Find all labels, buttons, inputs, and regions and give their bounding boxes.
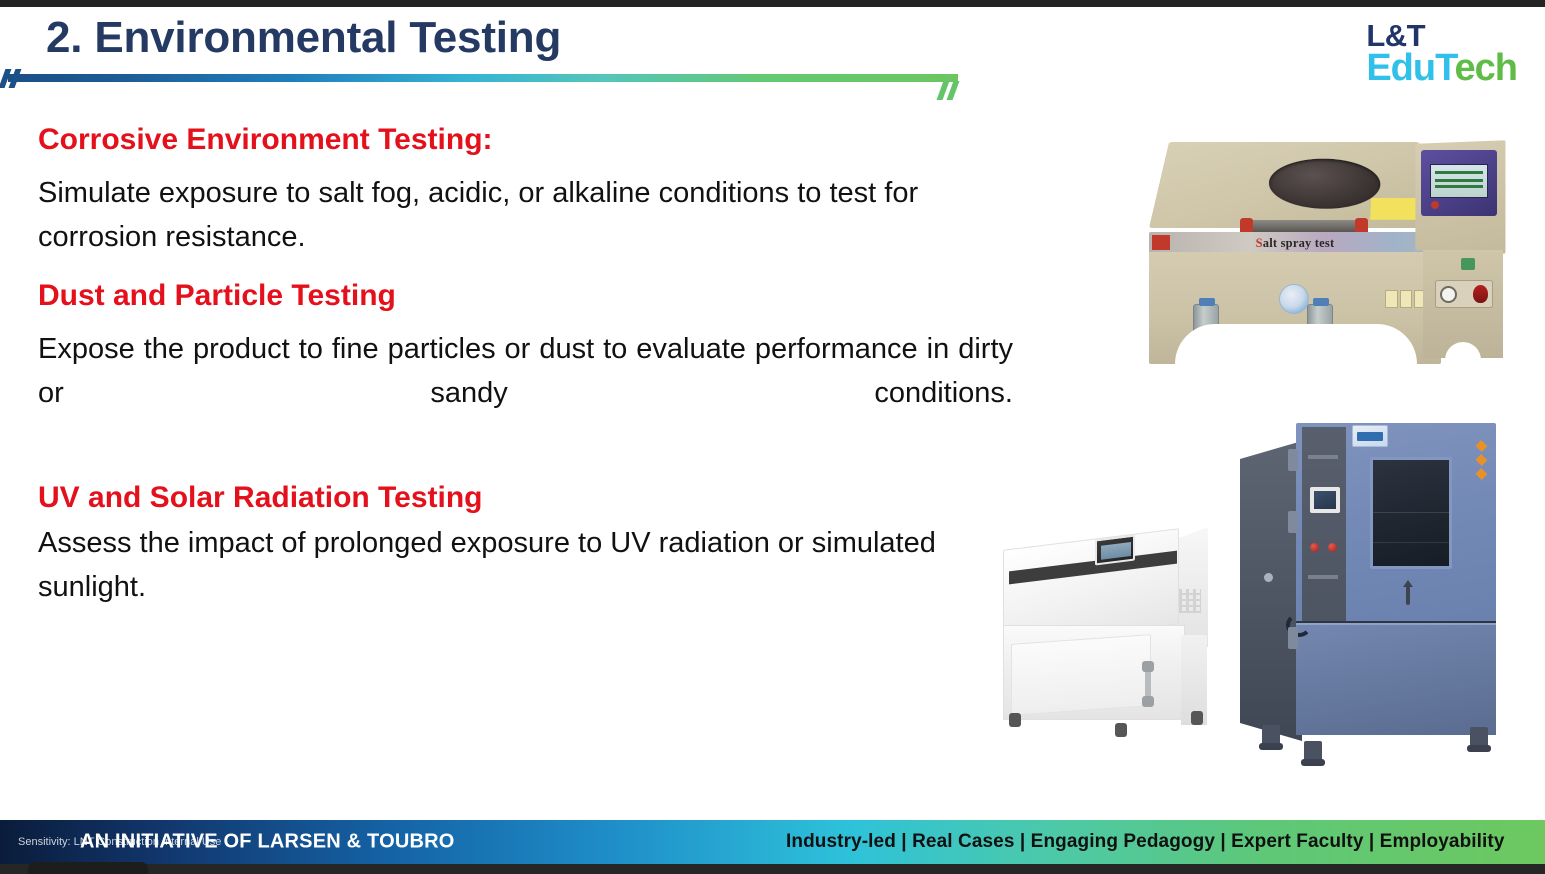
uv-vent-grille-icon — [1179, 589, 1201, 613]
section-text-dust: Expose the product to fine particles or … — [38, 327, 1013, 459]
chamber-label-rest: alt spray test — [1263, 236, 1335, 250]
logo-tech-t: T — [1435, 47, 1454, 89]
logo-edu-text: Edu — [1366, 47, 1435, 89]
logo-tech-text: Tech — [1435, 47, 1517, 89]
lcd-display-icon — [1430, 164, 1488, 198]
divider-gradient-line — [8, 74, 958, 82]
yellow-label-icon — [1370, 198, 1421, 220]
env-touchscreen-icon — [1310, 487, 1340, 513]
pressure-gauge-icon — [1440, 286, 1457, 303]
section-corrosive: Corrosive Environment Testing: Simulate … — [38, 125, 1013, 259]
section-heading-corrosive: Corrosive Environment Testing: — [38, 125, 1013, 155]
chamber-nameplate: Salt spray test — [1149, 232, 1441, 254]
title-divider — [0, 69, 975, 99]
chamber-label-initial: S — [1256, 236, 1263, 250]
control-panel-screen — [1421, 150, 1497, 216]
env-door-handle-icon[interactable] — [1406, 583, 1410, 605]
chamber-label-text: Salt spray test — [1256, 236, 1335, 251]
uv-base-door — [1011, 634, 1151, 716]
footer-tagline-text: Industry-led | Real Cases | Engaging Ped… — [786, 831, 1505, 853]
section-dust: Dust and Particle Testing Expose the pro… — [38, 281, 1013, 459]
env-viewing-window — [1370, 457, 1452, 569]
uv-caster-icon-1 — [1009, 713, 1021, 727]
footer-initiative-text: AN INITIATIVE OF LARSEN & TOUBRO — [80, 831, 455, 854]
env-hinge-icon-1 — [1288, 449, 1298, 471]
logo-edutech-text: EduTech — [1366, 51, 1517, 86]
section-text-corrosive: Simulate exposure to salt fog, acidic, o… — [38, 171, 1013, 259]
section-text-uv: Assess the impact of prolonged exposure … — [38, 521, 1013, 609]
env-side-wall — [1240, 441, 1302, 741]
env-control-label-1 — [1308, 455, 1338, 459]
env-foot-icon-1 — [1262, 725, 1280, 745]
window-bottom-band — [0, 864, 1545, 874]
section-heading-uv: UV and Solar Radiation Testing — [38, 483, 1013, 513]
uv-control-screen-icon — [1095, 535, 1135, 566]
taskbar-chip[interactable] — [28, 862, 148, 874]
nameplate-red-block-icon — [1152, 235, 1170, 250]
uv-caster-icon-2 — [1115, 723, 1127, 737]
env-side-knob-icon — [1264, 573, 1273, 582]
env-control-label-2 — [1308, 575, 1338, 579]
content-body: Corrosive Environment Testing: Simulate … — [38, 125, 1013, 610]
chamber-base-arch — [1175, 324, 1417, 364]
uv-door-latch-icon — [1145, 667, 1151, 703]
window-top-band — [0, 0, 1545, 7]
emergency-knob-icon — [1473, 285, 1488, 303]
tower-sticker-icon — [1461, 258, 1475, 270]
salt-spray-test-chamber-image: Salt spray test — [1143, 100, 1515, 368]
env-brand-badge-icon — [1352, 425, 1388, 447]
logo-tech-rest: ech — [1455, 47, 1517, 89]
env-button-icon-1[interactable] — [1310, 543, 1319, 552]
fuse-panel-icon — [1385, 290, 1427, 308]
lid-viewport-icon — [1268, 159, 1384, 209]
panel-indicator-icon — [1431, 201, 1439, 209]
chamber-badge-icon — [1279, 284, 1309, 314]
env-indicator-lights-icon — [1476, 441, 1488, 483]
env-button-icon-2[interactable] — [1328, 543, 1337, 552]
chamber-body — [1149, 252, 1441, 364]
page-title: 2. Environmental Testing — [46, 13, 561, 63]
section-heading-dust: Dust and Particle Testing — [38, 281, 1013, 311]
chamber-lid — [1149, 142, 1439, 228]
divider-tick-right-2 — [947, 81, 960, 100]
slide-canvas: 2. Environmental Testing L&T EduTech Cor… — [0, 0, 1545, 874]
env-lower-door — [1296, 623, 1496, 735]
env-hinge-icon-2 — [1288, 511, 1298, 533]
uv-weathering-tester-image — [995, 515, 1210, 740]
section-uv: UV and Solar Radiation Testing Assess th… — [38, 483, 1013, 609]
environmental-test-chamber-image — [1240, 415, 1510, 770]
slide-footer: Sensitivity: LNT Construction Internal U… — [0, 820, 1545, 864]
uv-caster-icon-3 — [1191, 711, 1203, 725]
env-hinge-icon-3 — [1288, 627, 1298, 649]
env-foot-icon-3 — [1470, 727, 1488, 747]
env-foot-icon-2 — [1304, 741, 1322, 761]
lt-edutech-logo: L&T EduTech — [1366, 22, 1517, 85]
